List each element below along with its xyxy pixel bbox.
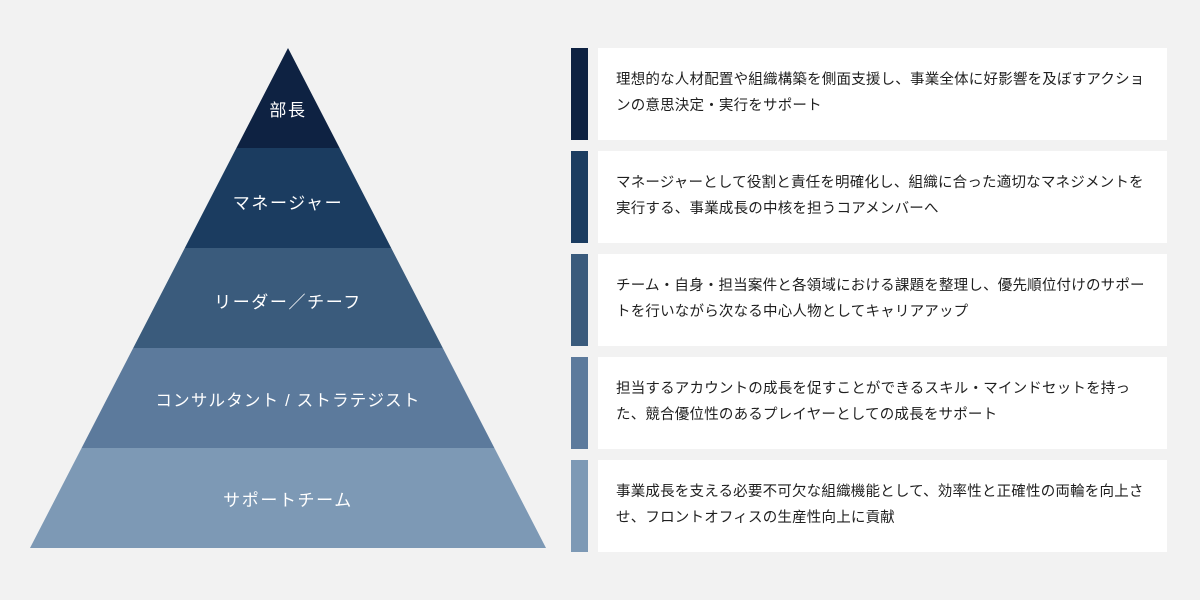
pyramid-tier-1-label: マネージャー xyxy=(0,194,576,214)
card-text-3: 担当するアカウントの成長を促すことができるスキル・マインドセットを持った、競合優… xyxy=(616,377,1149,429)
pyramid-tier-3-label: コンサルタント / ストラテジスト xyxy=(0,392,576,412)
card-spacer xyxy=(588,357,598,449)
card-body-4: 事業成長を支える必要不可欠な組織機能として、効率性と正確性の両輪を向上させ、フロ… xyxy=(598,460,1167,552)
card-text-1: マネージャーとして役割と責任を明確化し、組織に合った適切なマネジメントを実行する… xyxy=(616,171,1149,223)
card-body-1: マネージャーとして役割と責任を明確化し、組織に合った適切なマネジメントを実行する… xyxy=(598,151,1167,243)
description-card[interactable]: 事業成長を支える必要不可欠な組織機能として、効率性と正確性の両輪を向上させ、フロ… xyxy=(571,460,1167,552)
card-body-0: 理想的な人材配置や組織構築を側面支援し、事業全体に好影響を及ぼすアクションの意思… xyxy=(598,48,1167,140)
card-spacer xyxy=(588,460,598,552)
description-card[interactable]: 担当するアカウントの成長を促すことができるスキル・マインドセットを持った、競合優… xyxy=(571,357,1167,449)
description-card[interactable]: マネージャーとして役割と責任を明確化し、組織に合った適切なマネジメントを実行する… xyxy=(571,151,1167,243)
card-spacer xyxy=(588,254,598,346)
description-card-list: 理想的な人材配置や組織構築を側面支援し、事業全体に好影響を及ぼすアクションの意思… xyxy=(571,48,1167,552)
career-pyramid-diagram: 部長 マネージャー リーダー／チーフ コンサルタント / ストラテジスト サポー… xyxy=(0,0,1200,600)
pyramid-tier-0-shape[interactable] xyxy=(236,48,339,148)
card-accent-bar-0 xyxy=(571,48,588,140)
pyramid-tier-0-label: 部長 xyxy=(0,101,576,121)
card-body-3: 担当するアカウントの成長を促すことができるスキル・マインドセットを持った、競合優… xyxy=(598,357,1167,449)
card-text-4: 事業成長を支える必要不可欠な組織機能として、効率性と正確性の両輪を向上させ、フロ… xyxy=(616,480,1149,532)
card-accent-bar-2 xyxy=(571,254,588,346)
card-body-2: チーム・自身・担当案件と各領域における課題を整理し、優先順位付けのサポートを行い… xyxy=(598,254,1167,346)
card-accent-bar-3 xyxy=(571,357,588,449)
description-card[interactable]: 理想的な人材配置や組織構築を側面支援し、事業全体に好影響を及ぼすアクションの意思… xyxy=(571,48,1167,140)
card-spacer xyxy=(588,151,598,243)
card-text-2: チーム・自身・担当案件と各領域における課題を整理し、優先順位付けのサポートを行い… xyxy=(616,274,1149,326)
pyramid-chart: 部長 マネージャー リーダー／チーフ コンサルタント / ストラテジスト サポー… xyxy=(0,0,576,600)
pyramid-tier-2-label: リーダー／チーフ xyxy=(0,293,576,313)
pyramid-tier-4-label: サポートチーム xyxy=(0,491,576,511)
card-accent-bar-4 xyxy=(571,460,588,552)
card-accent-bar-1 xyxy=(571,151,588,243)
card-spacer xyxy=(588,48,598,140)
description-card[interactable]: チーム・自身・担当案件と各領域における課題を整理し、優先順位付けのサポートを行い… xyxy=(571,254,1167,346)
card-text-0: 理想的な人材配置や組織構築を側面支援し、事業全体に好影響を及ぼすアクションの意思… xyxy=(616,68,1149,120)
